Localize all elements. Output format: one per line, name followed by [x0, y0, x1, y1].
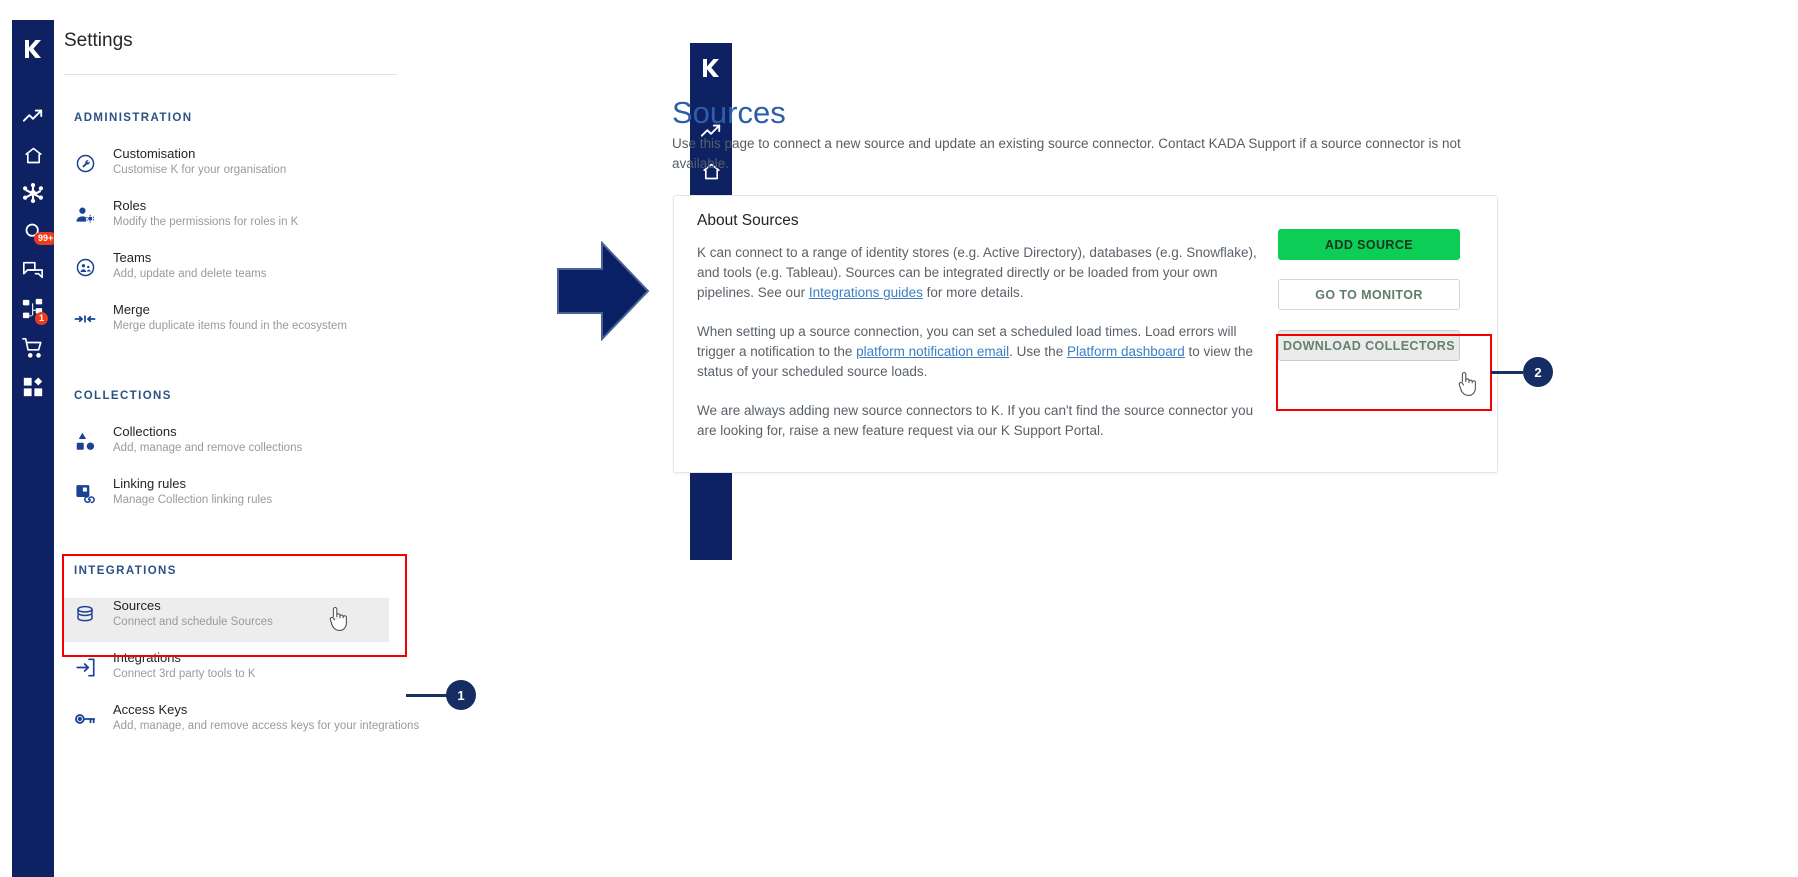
network-hub-icon[interactable] — [12, 176, 54, 210]
cart-icon[interactable] — [12, 331, 54, 365]
link-rules-icon — [74, 482, 96, 504]
highlight-box-step-1 — [62, 554, 407, 657]
sources-page-description: Use this page to connect a new source an… — [672, 134, 1507, 174]
inline-link[interactable]: Integrations guides — [809, 285, 923, 300]
cart-badge: 1 — [35, 312, 48, 325]
about-paragraph-1: K can connect to a range of identity sto… — [697, 243, 1257, 303]
menu-item-subtitle: Add, update and delete teams — [113, 268, 266, 280]
teams-circle-icon — [74, 256, 96, 278]
menu-item-access-keys[interactable]: Access Keys Add, manage, and remove acce… — [62, 702, 389, 746]
transition-arrow-icon — [556, 241, 650, 341]
cursor-pointer-icon-left — [327, 606, 349, 632]
sources-panel: Sources Use this page to connect a new s… — [732, 0, 1798, 877]
apps-grid-icon[interactable] — [12, 370, 54, 404]
about-sources-title: About Sources — [697, 212, 799, 230]
step-badge-2: 2 — [1523, 357, 1553, 387]
merge-arrows-icon — [74, 308, 96, 330]
callout-leader-line-1 — [406, 694, 450, 697]
about-paragraph-2: When setting up a source connection, you… — [697, 322, 1257, 382]
menu-item-title: Roles — [113, 198, 146, 213]
cursor-pointer-icon-right — [1456, 371, 1478, 397]
wrench-circle-icon — [74, 152, 96, 174]
callout-leader-line-2 — [1491, 371, 1523, 374]
menu-item-subtitle: Connect 3rd party tools to K — [113, 668, 256, 680]
screenshot-root: 99+ 1 Settings ADMINISTRATION Customisat… — [0, 0, 1798, 877]
settings-divider — [64, 74, 397, 75]
home-icon[interactable] — [12, 138, 54, 172]
chat-icon[interactable] — [12, 253, 54, 287]
left-nav-rail: 99+ 1 — [12, 20, 54, 877]
person-gear-icon — [74, 204, 96, 226]
menu-item-teams[interactable]: Teams Add, update and delete teams — [62, 250, 389, 294]
menu-item-title: Linking rules — [113, 476, 186, 491]
menu-item-title: Collections — [113, 424, 177, 439]
arrow-in-box-icon — [74, 656, 96, 678]
menu-item-title: Access Keys — [113, 702, 187, 717]
menu-item-collections[interactable]: Collections Add, manage and remove colle… — [62, 424, 389, 468]
sources-page-title: Sources — [672, 95, 786, 131]
k-logo-icon[interactable] — [690, 51, 732, 85]
k-logo-icon[interactable] — [12, 32, 54, 66]
step-badge-1: 1 — [446, 680, 476, 710]
section-heading-administration: ADMINISTRATION — [74, 112, 192, 124]
menu-item-subtitle: Modify the permissions for roles in K — [113, 216, 298, 228]
settings-page-title: Settings — [64, 30, 133, 52]
go-to-monitor-button[interactable]: GO TO MONITOR — [1278, 279, 1460, 310]
menu-item-title: Customisation — [113, 146, 195, 161]
settings-panel: Settings ADMINISTRATION Customisation Cu… — [54, 0, 690, 877]
menu-item-linking-rules[interactable]: Linking rules Manage Collection linking … — [62, 476, 389, 520]
menu-item-subtitle: Customise K for your organisation — [113, 164, 286, 176]
shapes-icon — [74, 430, 96, 452]
add-source-button[interactable]: ADD SOURCE — [1278, 229, 1460, 260]
menu-item-title: Teams — [113, 250, 151, 265]
menu-item-roles[interactable]: Roles Modify the permissions for roles i… — [62, 198, 389, 242]
hierarchy-icon[interactable] — [12, 292, 54, 326]
inline-link[interactable]: platform notification email — [856, 344, 1009, 359]
section-heading-collections: COLLECTIONS — [74, 390, 172, 402]
key-icon — [74, 708, 96, 730]
menu-item-merge[interactable]: Merge Merge duplicate items found in the… — [62, 302, 389, 346]
about-paragraph-3: We are always adding new source connecto… — [697, 401, 1257, 441]
menu-item-subtitle: Add, manage and remove collections — [113, 442, 302, 454]
menu-item-subtitle: Manage Collection linking rules — [113, 494, 272, 506]
menu-item-title: Merge — [113, 302, 150, 317]
trending-up-icon[interactable] — [12, 100, 54, 134]
menu-item-customisation[interactable]: Customisation Customise K for your organ… — [62, 146, 389, 190]
menu-item-subtitle: Add, manage, and remove access keys for … — [113, 720, 419, 732]
menu-item-subtitle: Merge duplicate items found in the ecosy… — [113, 320, 347, 332]
inline-link[interactable]: Platform dashboard — [1067, 344, 1185, 359]
